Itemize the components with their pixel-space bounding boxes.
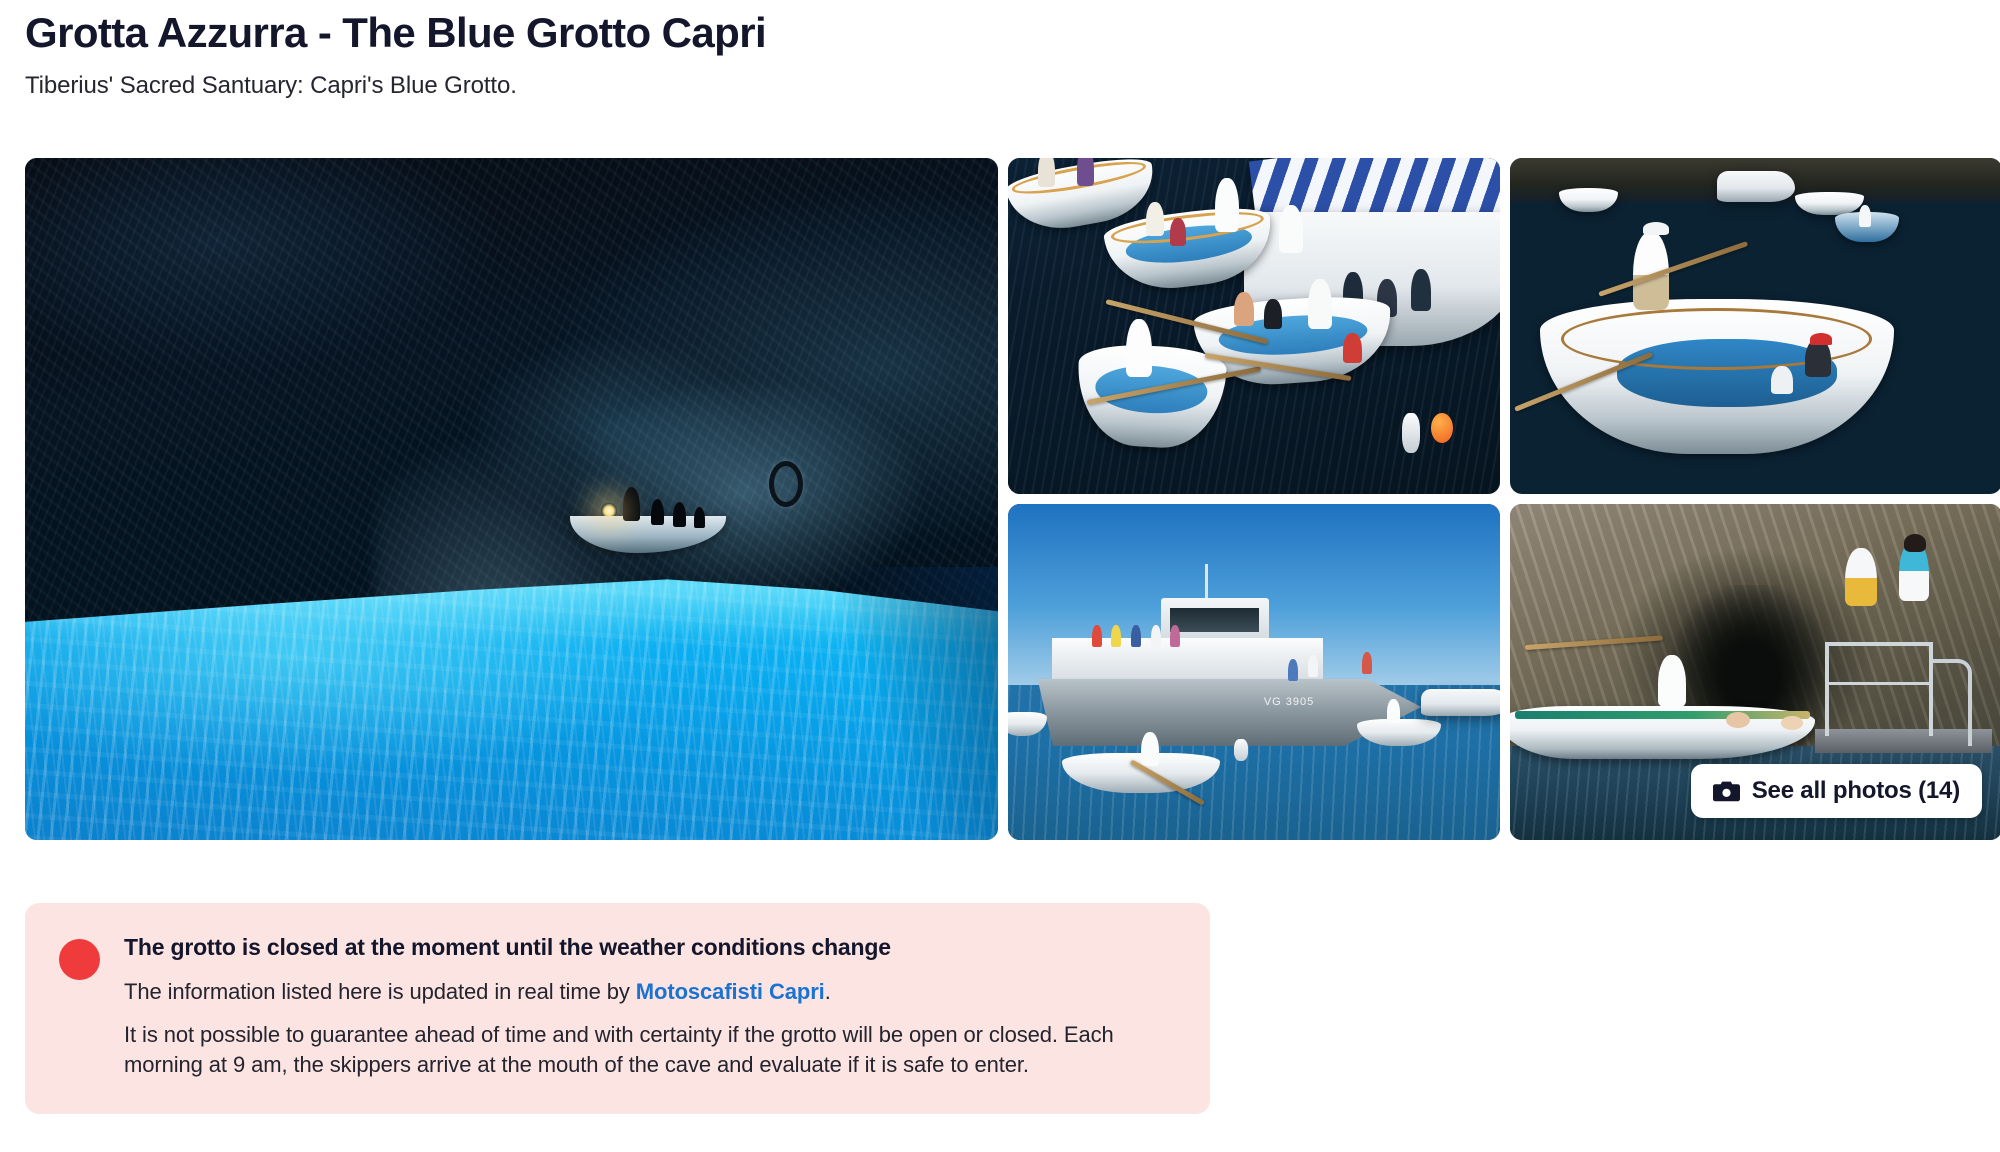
alert-source-suffix: . (825, 979, 831, 1004)
boat-passenger (651, 499, 664, 525)
skipper (1308, 279, 1332, 329)
boat-person (1077, 158, 1094, 186)
skipper (1215, 178, 1239, 232)
passenger-adult (1805, 339, 1831, 377)
boat-lamp-glow (601, 503, 617, 519)
see-all-photos-label: See all photos (14) (1752, 777, 1960, 805)
status-alert: The grotto is closed at the moment until… (25, 903, 1210, 1114)
visitor-man (1845, 548, 1877, 606)
boat-person (1343, 333, 1362, 363)
ferry-passenger (1308, 655, 1318, 677)
handrail (1933, 659, 1972, 746)
alert-source-prefix: The information listed here is updated i… (124, 979, 636, 1004)
water-shadow (842, 567, 998, 840)
page-header: Grotta Azzurra - The Blue Grotto Capri T… (25, 8, 1925, 100)
boat-person (1146, 202, 1164, 236)
ferry-passenger (1092, 625, 1102, 647)
visitor-hair (1904, 534, 1926, 552)
alert-body: The grotto is closed at the moment until… (124, 933, 1176, 1080)
white-fender (1234, 739, 1248, 761)
boat-person (1234, 292, 1254, 326)
skipper (1658, 655, 1686, 707)
page-title: Grotta Azzurra - The Blue Grotto Capri (25, 8, 1925, 58)
camera-icon (1713, 781, 1740, 802)
page-root: Grotta Azzurra - The Blue Grotto Capri T… (0, 0, 2000, 1152)
ferry-passenger (1362, 652, 1372, 674)
thumbnail-1-image (1008, 158, 1500, 494)
white-fender (1402, 413, 1420, 453)
boat-person (1170, 218, 1186, 246)
see-all-photos-button[interactable]: See all photos (14) (1691, 764, 1982, 818)
motoscafisti-capri-link[interactable]: Motoscafisti Capri (636, 979, 825, 1004)
dinghy-rower (1387, 699, 1400, 723)
boarding-ladder (1825, 642, 1933, 736)
skipper-hat (1643, 222, 1669, 235)
dinghy-rower (1141, 732, 1159, 766)
boat-passenger (1781, 716, 1803, 730)
boat-person (1279, 205, 1303, 253)
boat-stripe (1515, 711, 1810, 719)
skipper (1126, 319, 1152, 377)
boat-person (1264, 299, 1282, 329)
thumbnail-2-image (1510, 158, 2000, 494)
thumbnail-3-image: VG 3905 (1008, 504, 1500, 840)
ferry-registration-number: VG 3905 (1264, 696, 1314, 708)
ferry-windows (1170, 608, 1259, 632)
boat-person (1411, 269, 1431, 311)
photo-gallery: VG 3905 (25, 158, 2000, 840)
thumbnail-4[interactable]: See all photos (14) (1510, 504, 2000, 840)
ferry-passenger (1131, 625, 1141, 647)
alert-paragraph: It is not possible to guarantee ahead of… (124, 1020, 1176, 1080)
boat-person (1038, 158, 1055, 187)
ferry-passenger (1170, 625, 1180, 647)
passenger-headscarf (1810, 333, 1832, 345)
background-rower (1859, 205, 1871, 227)
background-boat (1421, 689, 1500, 716)
passenger-child (1771, 366, 1793, 394)
alert-source-line: The information listed here is updated i… (124, 977, 1176, 1006)
hero-photo-image (25, 158, 998, 840)
thumbnail-1[interactable] (1008, 158, 1500, 494)
ferry-passenger (1151, 625, 1161, 647)
status-badge (59, 939, 100, 980)
ferry-passenger (1111, 625, 1121, 647)
alert-title: The grotto is closed at the moment until… (124, 933, 1176, 962)
background-motorboat (1717, 171, 1796, 201)
hero-photo[interactable] (25, 158, 998, 840)
thumbnail-3[interactable]: VG 3905 (1008, 504, 1500, 840)
boat-passenger (673, 502, 686, 527)
page-subtitle: Tiberius' Sacred Santuary: Capri's Blue … (25, 72, 1925, 100)
thumbnail-2[interactable] (1510, 158, 2000, 494)
